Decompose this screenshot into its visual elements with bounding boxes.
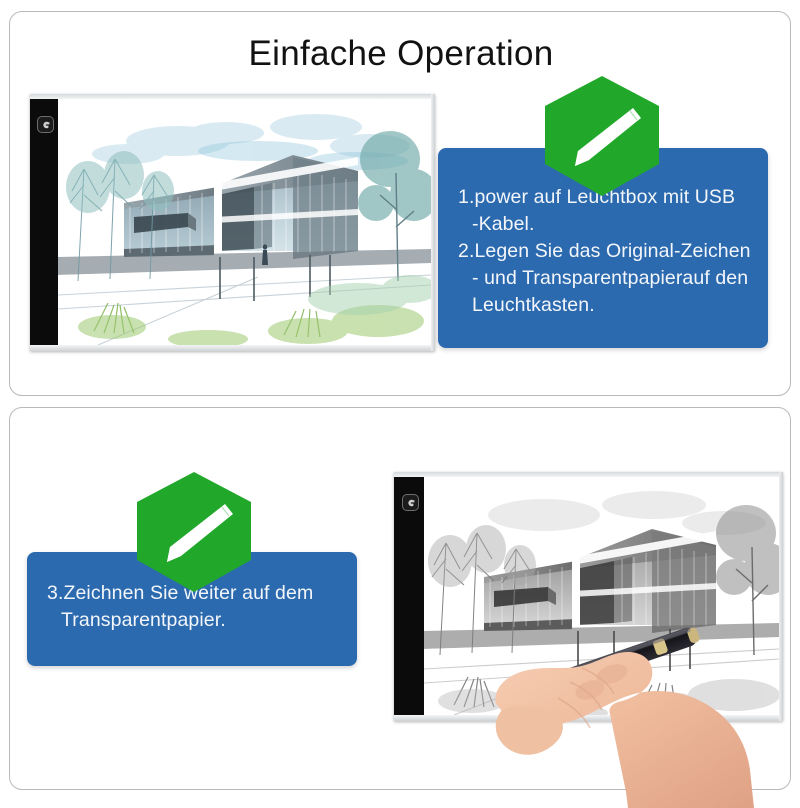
- lightpad-bezel-right: [431, 94, 435, 351]
- lightbox-logo-icon[interactable]: [402, 494, 419, 511]
- led-light-pad-top: [30, 94, 435, 351]
- lightpad-bezel-top: [394, 472, 783, 477]
- step-panel-bottom: 3.Zeichnen Sie weiter auf dem Transparen…: [9, 407, 791, 790]
- pen-icon: [129, 470, 259, 594]
- lightpad-bezel-top: [30, 94, 435, 99]
- pen-icon: [537, 74, 667, 198]
- step-panel-top: Einfache Operation: [9, 11, 791, 396]
- lightpad-screen-top: [58, 99, 431, 345]
- callout-line: 2.Legen Sie das Original-Zeichen: [458, 238, 754, 265]
- callout-line: - und Transparentpapierauf den: [458, 265, 754, 292]
- pen-badge-bottom: [129, 470, 259, 594]
- page-root: Einfache Operation: [0, 0, 800, 800]
- pen-badge-top: [537, 74, 667, 198]
- callout-line: Leuchtkasten.: [458, 292, 754, 319]
- lightbox-logo-icon[interactable]: [37, 116, 54, 133]
- lightpad-bezel-bottom: [30, 345, 435, 351]
- callout-line: Transparentpapier.: [47, 607, 343, 634]
- callout-line: -Kabel.: [458, 211, 754, 238]
- architectural-rendering-color: [58, 99, 431, 345]
- page-title: Einfache Operation: [10, 36, 792, 71]
- hand-with-pen: [462, 548, 800, 808]
